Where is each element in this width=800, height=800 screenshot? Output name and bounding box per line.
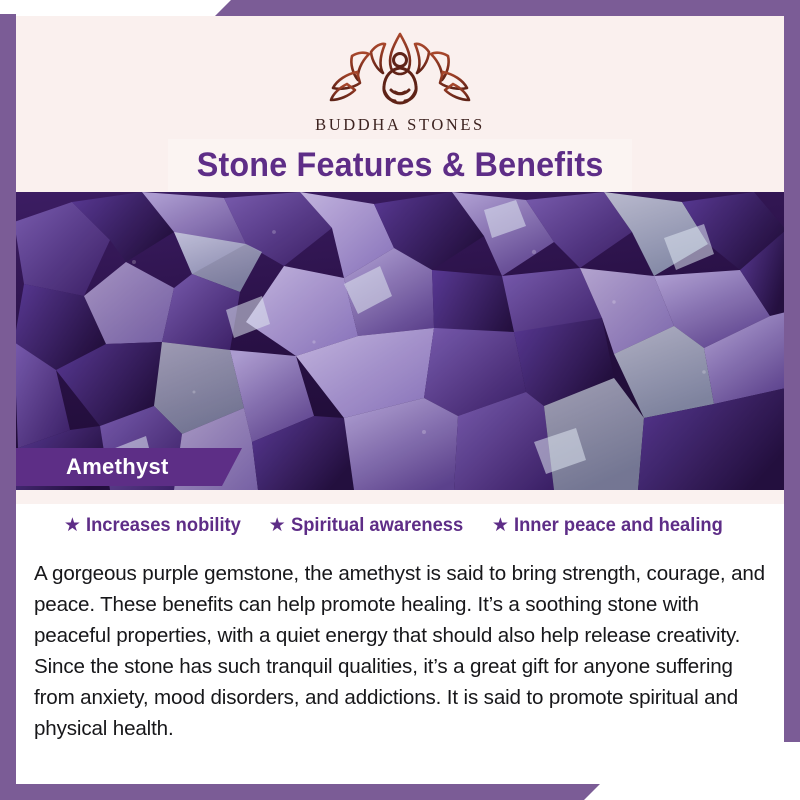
title-band: Stone Features & Benefits <box>168 139 632 192</box>
star-icon: ★ <box>492 516 509 535</box>
star-icon: ★ <box>269 516 286 535</box>
stone-description: A gorgeous purple gemstone, the amethyst… <box>34 558 770 744</box>
frame-border-top <box>215 0 800 16</box>
stone-name-banner: Amethyst <box>14 448 242 486</box>
content-top-fade <box>16 490 784 504</box>
brand-logo: BUDDHA STONES <box>315 28 485 135</box>
content-section: ★ Increases nobility ★ Spiritual awarene… <box>16 490 784 784</box>
lotus-meditation-icon <box>325 28 475 112</box>
frame-border-left <box>0 14 16 800</box>
feature-item: ★ Spiritual awareness <box>269 514 474 537</box>
feature-item: ★ Increases nobility <box>64 514 251 537</box>
frame-border-bottom <box>0 784 600 800</box>
feature-label: Spiritual awareness <box>291 514 463 537</box>
crystal-texture-graphic <box>14 192 786 490</box>
stone-name: Amethyst <box>66 454 169 480</box>
feature-label: Inner peace and healing <box>514 514 723 537</box>
infographic-poster: BUDDHA STONES Stone Features & Benefits <box>0 0 800 800</box>
feature-label: Increases nobility <box>86 514 241 537</box>
frame-border-right <box>784 0 800 742</box>
features-list: ★ Increases nobility ★ Spiritual awarene… <box>16 514 784 537</box>
feature-item: ★ Inner peace and healing <box>492 514 736 537</box>
star-icon: ★ <box>64 516 81 535</box>
page-title: Stone Features & Benefits <box>197 146 604 185</box>
amethyst-crystal-cluster-photo <box>14 192 786 490</box>
brand-name: BUDDHA STONES <box>315 115 485 135</box>
